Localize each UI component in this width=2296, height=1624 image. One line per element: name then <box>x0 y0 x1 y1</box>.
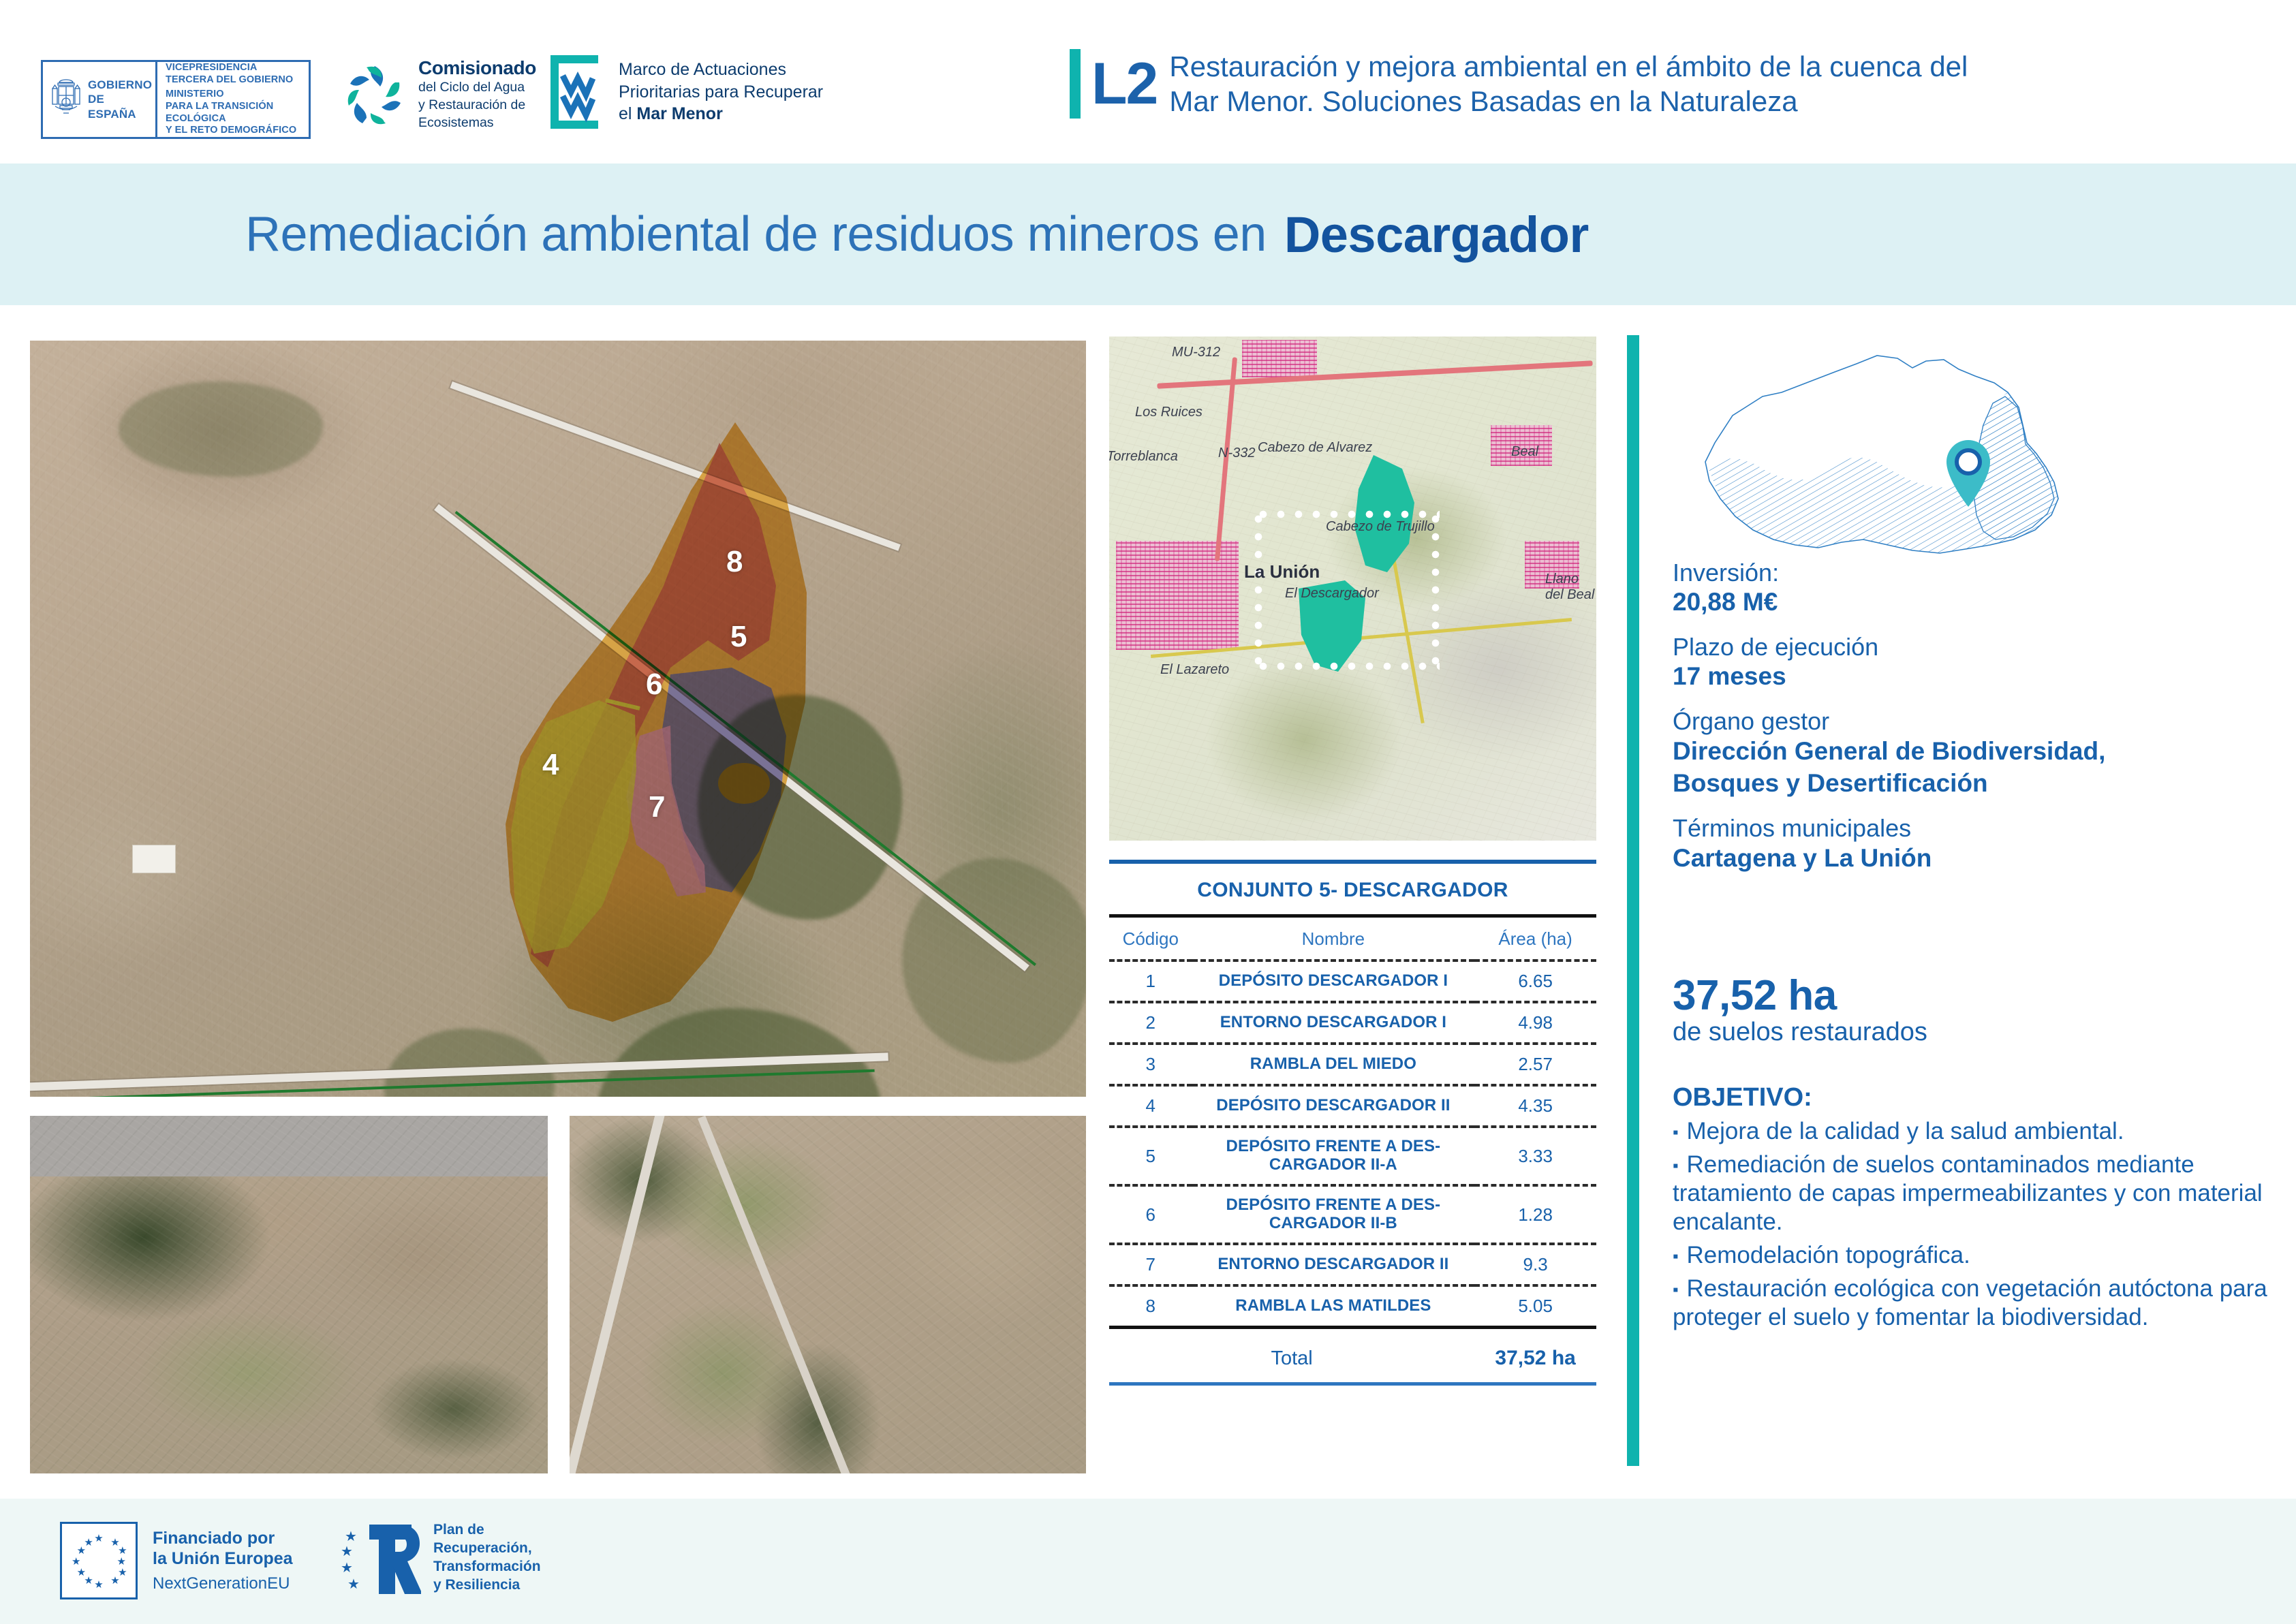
plazo-label: Plazo de ejecución <box>1673 633 2272 661</box>
cell-area: 6.65 <box>1474 961 1596 1002</box>
axis-description: Restauración y mejora ambiental en el ám… <box>1169 49 1968 119</box>
terminos-label: Términos municipales <box>1673 814 2272 843</box>
cell-nombre: DEPÓSITO FRENTE A DES-CARGADOR II-B <box>1192 1185 1475 1244</box>
table-total-row: Total 37,52 ha <box>1109 1329 1596 1382</box>
cell-area: 2.57 <box>1474 1044 1596 1085</box>
table-title: CONJUNTO 5- DESCARGADOR <box>1109 864 1596 914</box>
table-row: 2 ENTORNO DESCARGADOR I 4.98 <box>1109 1002 1596 1044</box>
cell-area: 1.28 <box>1474 1185 1596 1244</box>
column-header-area: Área (ha) <box>1474 918 1596 961</box>
locator-place-label: El Lazareto <box>1160 662 1229 678</box>
gobierno-de-espana-logo: GOBIERNO DE ESPAÑA VICEPRESIDENCIA TERCE… <box>41 60 311 139</box>
svg-text:★: ★ <box>345 1529 357 1544</box>
cell-codigo: 8 <box>1109 1285 1192 1328</box>
axis-code: L2 <box>1091 57 1157 111</box>
objectives-block: OBJETIVO: Mejora de la calidad y la salu… <box>1673 1083 2286 1337</box>
cell-nombre: DEPÓSITO DESCARGADOR I <box>1192 961 1475 1002</box>
objective-item: Restauración ecológica con vegetación au… <box>1673 1275 2286 1332</box>
objectives-title: OBJETIVO: <box>1673 1083 2286 1112</box>
restored-area-number: 37,52 ha <box>1673 974 2272 1017</box>
extent-box-left <box>1254 510 1262 670</box>
cell-codigo: 7 <box>1109 1244 1192 1285</box>
eu-funding-text: Financiado por la Unión Europea NextGene… <box>153 1528 293 1593</box>
svg-text:★: ★ <box>341 1561 353 1576</box>
locator-road-label: MU-312 <box>1172 345 1220 360</box>
locator-city-label: La Unión <box>1244 561 1320 582</box>
page-title: Remediación ambiental de residuos minero… <box>245 206 1267 262</box>
table-row: 3 RAMBLA DEL MIEDO 2.57 <box>1109 1044 1596 1085</box>
cell-nombre: RAMBLA DEL MIEDO <box>1192 1044 1475 1085</box>
building-footprint <box>132 845 176 873</box>
locator-place-label: Torreblanca <box>1109 449 1178 465</box>
cell-area: 4.98 <box>1474 1002 1596 1044</box>
restored-area-caption: de suelos restaurados <box>1673 1018 2272 1047</box>
table-row: 8 RAMBLA LAS MATILDES 5.05 <box>1109 1285 1596 1328</box>
polygon-label-7: 7 <box>649 790 665 824</box>
table-row: 7 ENTORNO DESCARGADOR II 9.3 <box>1109 1244 1596 1285</box>
locator-place-label: Beal <box>1511 444 1538 460</box>
cell-codigo: 6 <box>1109 1185 1192 1244</box>
plan-recuperacion-logo: ★ ★ ★ ★ Plan de Recuperación, Transforma… <box>339 1518 541 1598</box>
right-column-accent-bar <box>1627 335 1639 1466</box>
table-header-row: Código Nombre Área (ha) <box>1109 918 1596 961</box>
polygon-overlay-north[interactable] <box>466 416 970 1097</box>
marco-actuaciones-logo: Marco de Actuaciones Prioritarias para R… <box>545 48 927 136</box>
table-bottom-rule <box>1109 1382 1596 1386</box>
terminos-value: Cartagena y La Unión <box>1673 843 2272 873</box>
table-row: 4 DEPÓSITO DESCARGADOR II 4.35 <box>1109 1085 1596 1127</box>
polygon-label-8: 8 <box>726 545 743 579</box>
page-title-highlight: Descargador <box>1284 206 1589 264</box>
cell-codigo: 4 <box>1109 1085 1192 1127</box>
restored-area-highlight: 37,52 ha de suelos restaurados <box>1673 974 2272 1047</box>
ptr-monogram-icon: ★ ★ ★ ★ <box>339 1518 421 1598</box>
ministerio-label: VICEPRESIDENCIA TERCERA DEL GOBIERNO MIN… <box>157 62 309 137</box>
page-header: GOBIERNO DE ESPAÑA VICEPRESIDENCIA TERCE… <box>0 0 2296 163</box>
locator-place-label: Los Ruices <box>1135 405 1203 420</box>
marco-text: Marco de Actuaciones Prioritarias para R… <box>619 59 823 125</box>
svg-text:★: ★ <box>347 1577 360 1592</box>
locator-place-label: El Descargador <box>1285 586 1379 602</box>
water-cycle-pinwheel-icon <box>341 61 409 129</box>
eu-flag-icon: ★ ★ ★ ★ ★ ★ ★ ★ ★ ★ ★ ★ <box>60 1522 138 1599</box>
cell-nombre: ENTORNO DESCARGADOR II <box>1192 1244 1475 1285</box>
plazo-value: 17 meses <box>1673 661 2272 691</box>
cell-area: 3.33 <box>1474 1127 1596 1185</box>
locator-road-label: N-332 <box>1218 446 1255 461</box>
column-header-codigo: Código <box>1109 918 1192 961</box>
svg-text:★: ★ <box>341 1544 353 1559</box>
organo-label: Órgano gestor <box>1673 707 2272 736</box>
cell-nombre: RAMBLA LAS MATILDES <box>1192 1285 1475 1328</box>
locator-place-label: Llano del Beal <box>1545 572 1596 603</box>
cell-area: 4.35 <box>1474 1085 1596 1127</box>
polygon-label-4: 4 <box>542 748 559 782</box>
locator-topographic-map[interactable]: La Unión Los Ruices Torreblanca Beal Lla… <box>1109 337 1596 841</box>
gobierno-logo-left: GOBIERNO DE ESPAÑA <box>43 62 157 137</box>
cell-codigo: 1 <box>1109 961 1192 1002</box>
areas-table-block: CONJUNTO 5- DESCARGADOR Código Nombre Ár… <box>1109 860 1596 1386</box>
urban-area <box>1242 340 1317 377</box>
locator-place-label: Cabezo de Alvarez <box>1258 440 1372 456</box>
cell-nombre: ENTORNO DESCARGADOR I <box>1192 1002 1475 1044</box>
cell-codigo: 5 <box>1109 1127 1192 1185</box>
total-value: 37,52 ha <box>1474 1347 1596 1370</box>
objectives-list: Mejora de la calidad y la salud ambienta… <box>1673 1117 2286 1332</box>
urban-area <box>1116 541 1239 650</box>
table-row: 6 DEPÓSITO FRENTE A DES-CARGADOR II-B 1.… <box>1109 1185 1596 1244</box>
comisionado-text: Comisionado del Ciclo del Agua y Restaur… <box>418 59 536 131</box>
polygon-label-5: 5 <box>730 620 747 654</box>
page-title-banner: Remediación ambiental de residuos minero… <box>0 163 2296 305</box>
polygon-label-6: 6 <box>646 668 662 702</box>
cell-nombre: DEPÓSITO DESCARGADOR II <box>1192 1085 1475 1127</box>
objective-item: Remediación de suelos contaminados media… <box>1673 1151 2286 1236</box>
axis-header: L2 Restauración y mejora ambiental en el… <box>1070 49 1968 119</box>
aerial-map-with-polygons[interactable]: 8 5 6 4 7 2 1 3 <box>30 341 1086 1097</box>
inversion-label: Inversión: <box>1673 559 2272 587</box>
site-photo-left[interactable] <box>30 1116 548 1473</box>
organo-value-line1: Dirección General de Biodiversidad, <box>1673 736 2272 768</box>
marco-bracket-waves-icon <box>545 51 608 133</box>
organo-value-line2: Bosques y Desertificación <box>1673 768 2272 800</box>
eu-funding-logo: ★ ★ ★ ★ ★ ★ ★ ★ ★ ★ ★ ★ Financiado por l… <box>60 1522 293 1599</box>
comisionado-logo: Comisionado del Ciclo del Agua y Restaur… <box>341 54 565 135</box>
cell-area: 9.3 <box>1474 1244 1596 1285</box>
total-label: Total <box>1109 1347 1474 1370</box>
objective-item: Remodelación topográfica. <box>1673 1241 2286 1270</box>
cell-codigo: 2 <box>1109 1002 1192 1044</box>
objective-item: Mejora de la calidad y la salud ambienta… <box>1673 1117 2286 1146</box>
site-photo-right[interactable] <box>570 1116 1086 1473</box>
project-info-block: Inversión: 20,88 M€ Plazo de ejecución 1… <box>1673 559 2272 873</box>
cell-codigo: 3 <box>1109 1044 1192 1085</box>
extent-box-top <box>1254 510 1440 518</box>
cell-area: 5.05 <box>1474 1285 1596 1328</box>
mar-menor-basin-map <box>1673 341 2081 559</box>
extent-box-bottom <box>1254 662 1440 670</box>
locator-place-label: Cabezo de Trujillo <box>1326 519 1435 535</box>
plan-recuperacion-text: Plan de Recuperación, Transformación y R… <box>433 1521 541 1595</box>
axis-accent-bar <box>1070 49 1081 119</box>
column-header-nombre: Nombre <box>1192 918 1475 961</box>
photo-left-texture <box>30 1116 548 1473</box>
areas-table: Código Nombre Área (ha) 1 DEPÓSITO DESCA… <box>1109 918 1596 1329</box>
table-row: 1 DEPÓSITO DESCARGADOR I 6.65 <box>1109 961 1596 1002</box>
inversion-value: 20,88 M€ <box>1673 587 2272 617</box>
coat-of-arms-icon <box>48 78 84 121</box>
gobierno-label: GOBIERNO DE ESPAÑA <box>88 78 155 121</box>
cell-nombre: DEPÓSITO FRENTE A DES-CARGADOR II-A <box>1192 1127 1475 1185</box>
table-row: 5 DEPÓSITO FRENTE A DES-CARGADOR II-A 3.… <box>1109 1127 1596 1185</box>
